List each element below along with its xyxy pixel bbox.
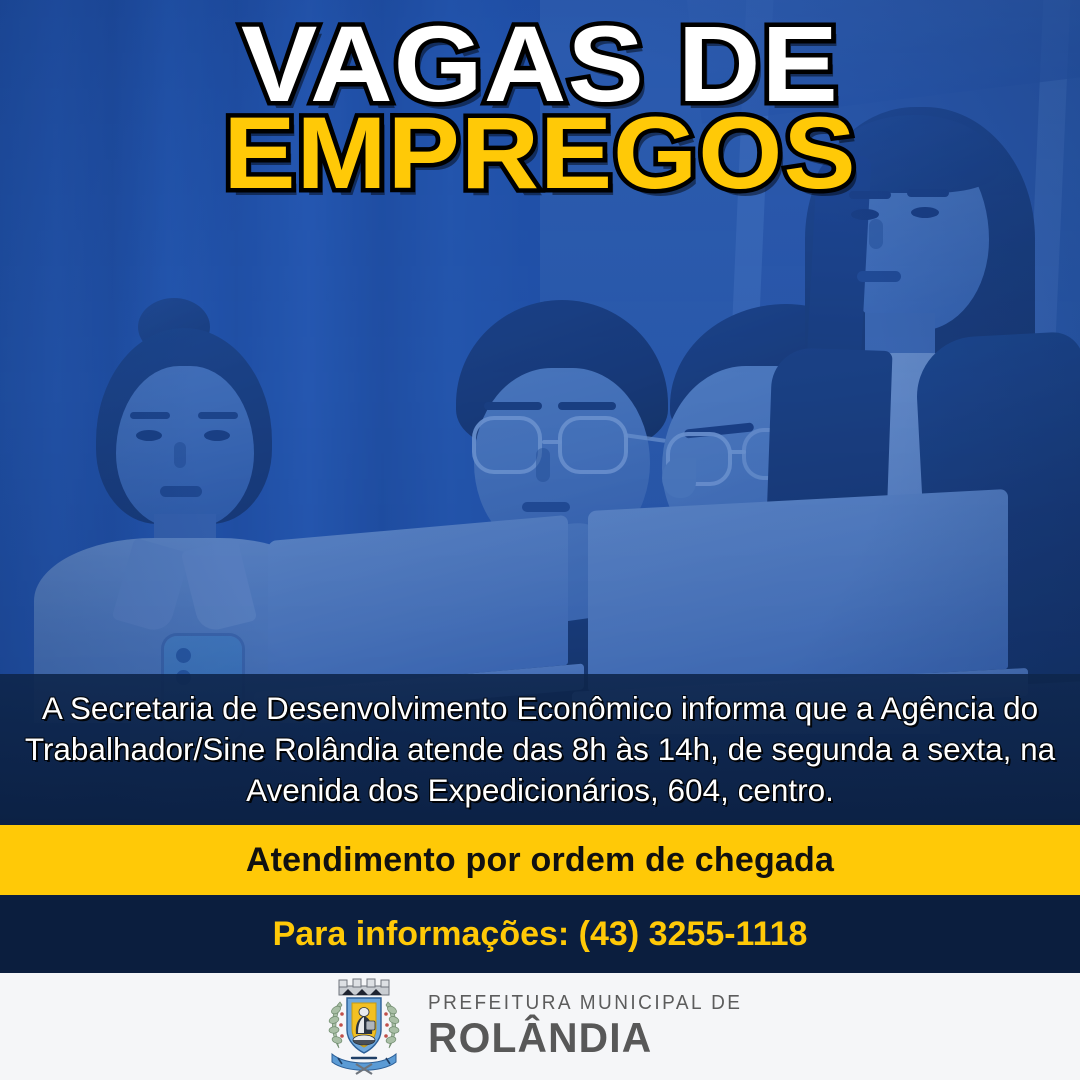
poster-root: VAGAS DE EMPREGOS A Secretaria de Desenv… (0, 0, 1080, 1080)
contact-band-text: Para informações: (43) 3255-1118 (273, 915, 808, 954)
logo-text: PREFEITURA MUNICIPAL DE ROLÂNDIA (428, 993, 759, 1060)
contact-band: Para informações: (43) 3255-1118 (0, 895, 1080, 973)
coat-of-arms-icon (322, 978, 406, 1076)
logo-bottom-line: ROLÂNDIA (428, 1016, 749, 1060)
info-band: A Secretaria de Desenvolvimento Econômic… (0, 674, 1080, 825)
headline-line-2: EMPREGOS (0, 107, 1080, 201)
yellow-band-text: Atendimento por ordem de chegada (246, 841, 834, 880)
yellow-band: Atendimento por ordem de chegada (0, 825, 1080, 895)
headline: VAGAS DE EMPREGOS (0, 14, 1080, 201)
info-band-text: A Secretaria de Desenvolvimento Econômic… (0, 688, 1080, 811)
footer: PREFEITURA MUNICIPAL DE ROLÂNDIA (0, 973, 1080, 1080)
logo-top-line: PREFEITURA MUNICIPAL DE (428, 993, 742, 1013)
